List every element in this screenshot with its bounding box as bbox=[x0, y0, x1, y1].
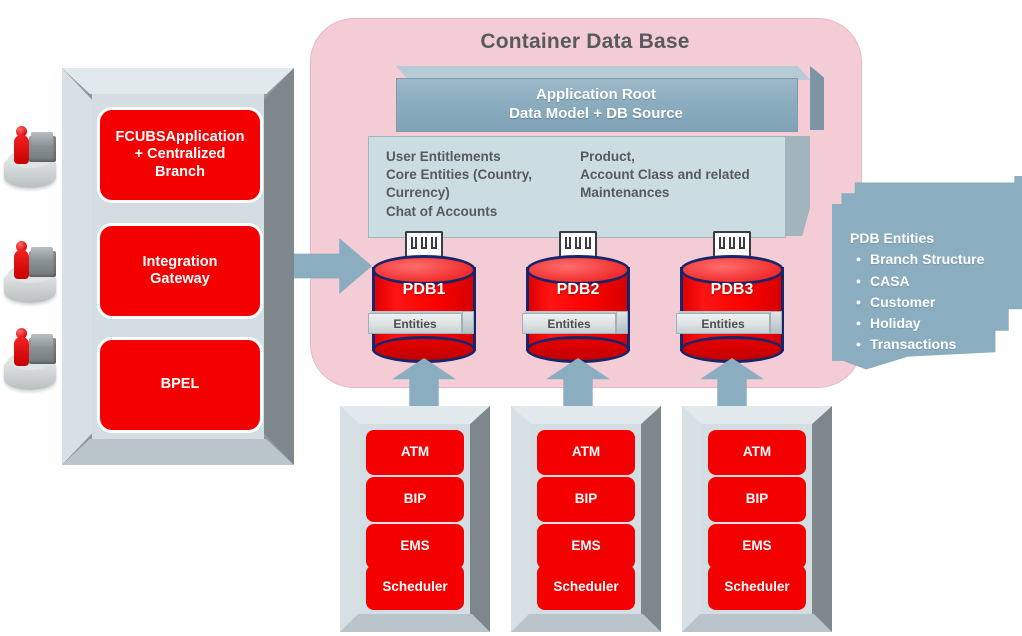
usb-connector-icon bbox=[405, 231, 443, 257]
stack-bevel-bottom bbox=[340, 614, 490, 632]
channel-stack-3: ATM BIP EMS Scheduler bbox=[682, 406, 832, 632]
pdb-label-2: PDB2 bbox=[526, 281, 630, 299]
application-root-slab: Application Root Data Model + DB Source bbox=[396, 66, 810, 132]
channel-item-ems-2[interactable]: EMS bbox=[537, 524, 635, 569]
pdb-cylinder-1[interactable]: PDB1 Entities bbox=[372, 255, 476, 363]
stack-bevel-left bbox=[682, 406, 702, 632]
pdb-label-1: PDB1 bbox=[372, 281, 476, 299]
channel-item-atm-1[interactable]: ATM bbox=[366, 430, 464, 475]
application-tier-frame: FCUBSApplication + Centralized Branch In… bbox=[62, 68, 294, 465]
entities-bar-2[interactable]: Entities bbox=[522, 311, 628, 335]
entities-bar-1[interactable]: Entities bbox=[368, 311, 474, 335]
monitor-icon bbox=[31, 132, 53, 145]
stack-bevel-right bbox=[470, 406, 490, 632]
stack-bevel-bottom bbox=[682, 614, 832, 632]
channel-item-scheduler-1[interactable]: Scheduler bbox=[366, 565, 464, 610]
stack-bevel-left bbox=[340, 406, 360, 632]
stack-bevel-right bbox=[641, 406, 661, 632]
entities-label-2: Entities bbox=[522, 313, 616, 334]
stack-bevel-left bbox=[511, 406, 531, 632]
channel-item-bip-2[interactable]: BIP bbox=[537, 477, 635, 522]
pdb-entities-item: Transactions bbox=[870, 334, 984, 355]
pdb-label-3: PDB3 bbox=[680, 281, 784, 299]
channel-stack-2: ATM BIP EMS Scheduler bbox=[511, 406, 661, 632]
integration-line-1: Integration bbox=[143, 254, 218, 271]
integration-line-2: Gateway bbox=[143, 271, 218, 288]
pdb-entities-callout: PDB Entities Branch Structure CASA Custo… bbox=[832, 176, 1022, 391]
fcubs-line-2: + Centralized bbox=[116, 146, 245, 163]
ent-left-line-4: Chat of Accounts bbox=[386, 203, 580, 221]
fcubs-line-3: Branch bbox=[116, 164, 245, 181]
user-workstation-icon-2 bbox=[2, 235, 60, 309]
ent-right-line-2: Account Class and related bbox=[580, 166, 784, 184]
entities-bar-cap bbox=[770, 311, 782, 334]
channel-item-atm-2[interactable]: ATM bbox=[537, 430, 635, 475]
fcubs-line-1: FCUBSApplication bbox=[116, 129, 245, 146]
pdb-entities-item: Branch Structure bbox=[870, 249, 984, 270]
stack-bevel-top bbox=[340, 406, 490, 424]
channel-item-ems-1[interactable]: EMS bbox=[366, 524, 464, 569]
stack-bevel-right bbox=[812, 406, 832, 632]
person-icon bbox=[14, 126, 29, 164]
monitor-icon bbox=[31, 247, 53, 260]
ent-left-line-2: Core Entities (Country, bbox=[386, 166, 580, 184]
application-root-line-2: Data Model + DB Source bbox=[509, 104, 683, 123]
person-body bbox=[14, 250, 29, 279]
entitlements-column-left: User Entitlements Core Entities (Country… bbox=[368, 136, 580, 236]
entitlements-text: User Entitlements Core Entities (Country… bbox=[368, 136, 784, 236]
frame-bevel-bottom bbox=[62, 439, 294, 465]
entitlements-panel: User Entitlements Core Entities (Country… bbox=[368, 136, 810, 236]
ent-left-line-1: User Entitlements bbox=[386, 148, 580, 166]
entities-bar-cap bbox=[616, 311, 628, 334]
fcubs-application-box[interactable]: FCUBSApplication + Centralized Branch bbox=[100, 110, 260, 200]
entities-label-1: Entities bbox=[368, 313, 462, 334]
pdb-entities-item: Customer bbox=[870, 292, 984, 313]
stack-bevel-top bbox=[511, 406, 661, 424]
frame-bevel-left bbox=[62, 68, 92, 465]
application-root-label: Application Root Data Model + DB Source bbox=[396, 78, 796, 130]
channel-item-scheduler-2[interactable]: Scheduler bbox=[537, 565, 635, 610]
usb-connector-icon bbox=[559, 231, 597, 257]
page-title: Container Data Base bbox=[310, 30, 860, 54]
usb-connector-icon bbox=[713, 231, 751, 257]
pdb-entities-list: Branch Structure CASA Customer Holiday T… bbox=[850, 249, 984, 355]
frame-bevel-top bbox=[62, 68, 294, 94]
entities-label-3: Entities bbox=[676, 313, 770, 334]
person-body bbox=[14, 135, 29, 164]
channel-item-bip-1[interactable]: BIP bbox=[366, 477, 464, 522]
channel-stack-1: ATM BIP EMS Scheduler bbox=[340, 406, 490, 632]
diagram-canvas: FCUBSApplication + Centralized Branch In… bbox=[0, 0, 1022, 636]
frame-bevel-right bbox=[264, 68, 294, 465]
channel-item-ems-3[interactable]: EMS bbox=[708, 524, 806, 569]
person-body bbox=[14, 337, 29, 366]
user-workstation-icon-3 bbox=[2, 322, 60, 396]
entitlements-side-bevel bbox=[782, 136, 810, 236]
pdb-entities-item: CASA bbox=[870, 271, 984, 292]
ent-right-line-3: Maintenances bbox=[580, 184, 784, 202]
bpel-box[interactable]: BPEL bbox=[100, 340, 260, 430]
stack-bevel-top bbox=[682, 406, 832, 424]
channel-item-bip-3[interactable]: BIP bbox=[708, 477, 806, 522]
integration-gateway-box[interactable]: Integration Gateway bbox=[100, 226, 260, 316]
pdb-entities-item: Holiday bbox=[870, 313, 984, 334]
monitor-icon bbox=[31, 334, 53, 347]
application-root-line-1: Application Root bbox=[509, 85, 683, 104]
pdb-entities-title: PDB Entities bbox=[850, 228, 984, 249]
user-workstation-icon-1 bbox=[2, 120, 60, 194]
ent-left-line-3: Currency) bbox=[386, 184, 580, 202]
person-icon bbox=[14, 241, 29, 279]
bpel-label: BPEL bbox=[161, 376, 200, 393]
person-icon bbox=[14, 328, 29, 366]
pdb-entities-content: PDB Entities Branch Structure CASA Custo… bbox=[850, 228, 984, 356]
entitlements-column-right: Product, Account Class and related Maint… bbox=[580, 136, 784, 236]
channel-item-atm-3[interactable]: ATM bbox=[708, 430, 806, 475]
ent-right-line-1: Product, bbox=[580, 148, 784, 166]
entities-bar-cap bbox=[462, 311, 474, 334]
entities-bar-3[interactable]: Entities bbox=[676, 311, 782, 335]
pdb-cylinder-2[interactable]: PDB2 Entities bbox=[526, 255, 630, 363]
pdb-cylinder-3[interactable]: PDB3 Entities bbox=[680, 255, 784, 363]
channel-item-scheduler-3[interactable]: Scheduler bbox=[708, 565, 806, 610]
stack-bevel-bottom bbox=[511, 614, 661, 632]
